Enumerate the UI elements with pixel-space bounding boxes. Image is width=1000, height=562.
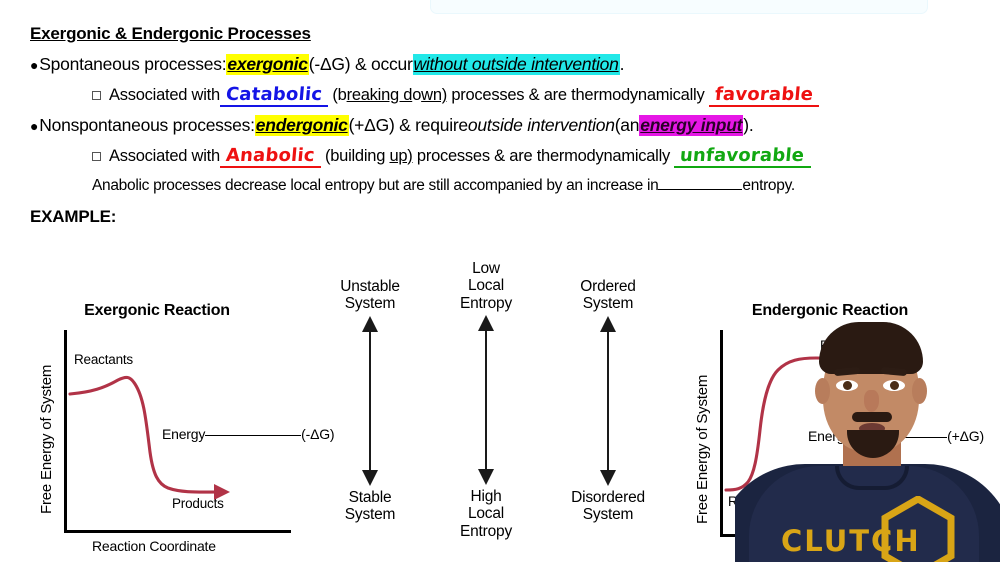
subbullet-anabolic: Associated with Anabolic (building up) p…: [92, 145, 1000, 166]
arrow-stability-top: Unstable System: [322, 278, 418, 313]
subbullet-text-mid: (breaking down) processes & are thermody…: [328, 86, 709, 105]
clutch-logo-text: CLUTCH: [781, 524, 941, 558]
instructor-eye-left: [836, 380, 858, 391]
chart-exergonic-energy-row: Energy(-ΔG): [162, 426, 334, 442]
subbullet-catabolic: Associated with Catabolic (breaking down…: [92, 84, 1000, 105]
instructor-hair: [819, 322, 923, 374]
highlight-endergonic: endergonic: [255, 115, 349, 136]
subbullet2-text-pre: Associated with: [109, 147, 220, 166]
top-banner: [430, 0, 928, 14]
instructor-video-overlay[interactable]: CLUTCH: [735, 316, 1000, 562]
bullet-text-mid: (-ΔG) & occur: [309, 54, 413, 75]
bullet-nonspontaneous: ● Nonspontaneous processes: endergonic (…: [30, 115, 1000, 136]
chart-exergonic-label-products: Products: [172, 496, 224, 511]
notes-region: Exergonic & Endergonic Processes ● Spont…: [0, 20, 1000, 227]
highlight-exergonic: exergonic: [226, 54, 308, 75]
bullet-text-post: .: [620, 54, 625, 75]
arrow-column-order: Ordered System Disordered System: [554, 278, 662, 523]
answer-unfavorable: unfavorable: [674, 145, 810, 166]
arrow-stability-bottom: Stable System: [322, 489, 418, 524]
double-arrow-icon: [355, 316, 385, 486]
double-arrow-icon: [593, 316, 623, 486]
answer-favorable: favorable: [709, 84, 819, 105]
answer-catabolic: Catabolic: [220, 84, 328, 105]
subbullet3-text-post: entropy.: [742, 177, 794, 195]
bullet2-text-pre: Nonspontaneous processes:: [39, 115, 255, 136]
bullet-dot-icon: ●: [30, 119, 38, 133]
arrow-column-stability: Unstable System Stable System: [322, 278, 418, 523]
highlight-without-outside-intervention: without outside intervention: [413, 54, 620, 75]
subbullet2-text-mid: (building up) processes & are thermodyna…: [321, 147, 675, 166]
chart-exergonic-energy-blank[interactable]: [205, 435, 301, 436]
instructor-mustache: [852, 412, 892, 422]
fill-in-blank-entropy[interactable]: [658, 189, 742, 190]
chart-exergonic-energy-text: Energy: [162, 426, 205, 442]
arrow-entropy-bottom: High Local Entropy: [438, 488, 534, 540]
arrow-column-entropy: Low Local Entropy High Local Entropy: [438, 260, 534, 540]
chart-exergonic-label-reactants: Reactants: [74, 352, 133, 367]
instructor-ear-right: [912, 378, 927, 404]
subbullet-entropy: Anabolic processes decrease local entrop…: [92, 177, 1000, 195]
instructor-nose: [864, 390, 879, 412]
arrow-entropy-top: Low Local Entropy: [438, 260, 534, 312]
chart-exergonic: Exergonic Reaction Free Energy of System…: [22, 302, 312, 562]
square-bullet-icon: [92, 152, 101, 161]
chart-exergonic-xlabel: Reaction Coordinate: [92, 538, 216, 554]
page-title: Exergonic & Endergonic Processes: [30, 24, 1000, 44]
arrow-order-top: Ordered System: [554, 278, 662, 313]
double-arrow-icon: [471, 315, 501, 485]
answer-anabolic: Anabolic: [220, 145, 321, 166]
bullet2-paren-open: (an: [615, 115, 640, 136]
instructor-ear-left: [815, 378, 830, 404]
bullet-spontaneous: ● Spontaneous processes: exergonic (-ΔG)…: [30, 54, 1000, 75]
highlight-energy-input: energy input: [639, 115, 743, 136]
square-bullet-icon: [92, 91, 101, 100]
italic-outside-intervention: outside intervention: [468, 115, 615, 136]
subbullet-text-pre: Associated with: [109, 86, 220, 105]
bullet-text-pre: Spontaneous processes:: [39, 54, 226, 75]
instructor-eye-right: [883, 380, 905, 391]
bullet-dot-icon: ●: [30, 58, 38, 72]
bullet2-text-mid: (+ΔG) & require: [349, 115, 468, 136]
subbullet3-text-pre: Anabolic processes decrease local entrop…: [92, 177, 658, 195]
arrow-order-bottom: Disordered System: [554, 489, 662, 524]
bullet2-text-post: ).: [743, 115, 753, 136]
example-label: EXAMPLE:: [30, 207, 1000, 227]
